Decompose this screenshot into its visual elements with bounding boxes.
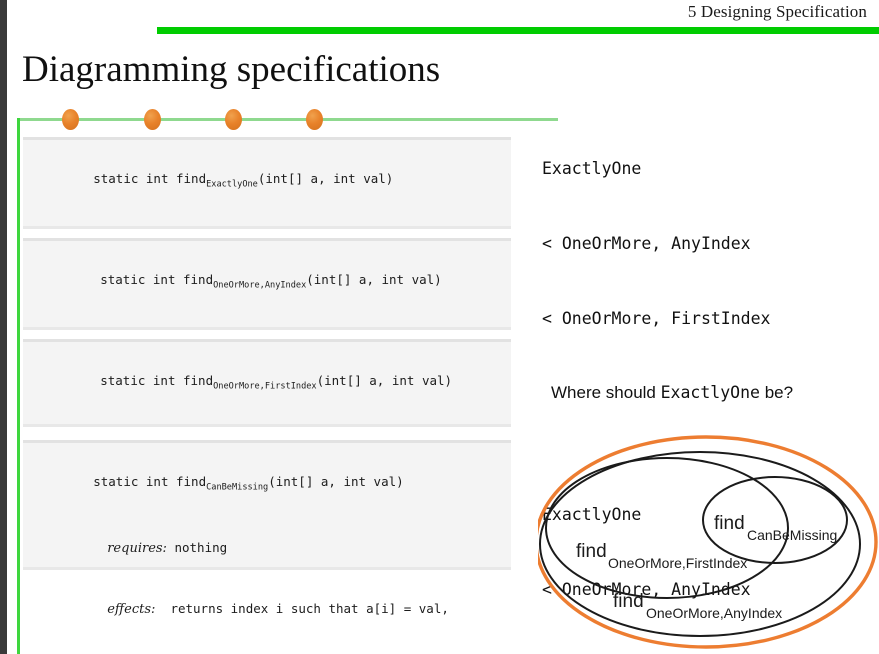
spec-signature-pre: static int find xyxy=(93,171,206,186)
bullet-dot-3 xyxy=(225,109,242,130)
venn-label-canbemissing-main: find xyxy=(714,513,745,534)
bullet-dot-4 xyxy=(306,109,323,130)
venn-label-anyindex-sub: OneOrMore,AnyIndex xyxy=(646,605,782,621)
comparison-line: < OneOrMore, FirstIndex xyxy=(542,306,877,331)
spec-signature-post: (int[] a, int val) xyxy=(317,373,452,388)
bullet-dot-2 xyxy=(144,109,161,130)
spec-box-canbemissing: static int findCanBeMissing(int[] a, int… xyxy=(23,440,511,570)
requires-label: requires: xyxy=(107,541,167,556)
left-vertical-rule xyxy=(17,118,20,654)
spec-box-oneormore-anyindex: static int findOneOrMore,AnyIndex(int[] … xyxy=(23,238,511,330)
title-underline-rule xyxy=(17,118,558,121)
spec-signature-subscript: OneOrMore,FirstIndex xyxy=(213,382,316,392)
spec-signature-subscript: ExactlyOne xyxy=(206,180,258,190)
spec-signature: static int findExactlyOne(int[] a, int v… xyxy=(23,149,511,215)
spec-signature-post: (int[] a, int val) xyxy=(306,272,441,287)
spec-signature-pre: static int find xyxy=(100,373,213,388)
spec-box-exactlyone: static int findExactlyOne(int[] a, int v… xyxy=(23,137,511,229)
comparison-line: < OneOrMore, AnyIndex xyxy=(542,231,877,256)
venn-diagram: find CanBeMissing find OneOrMore,FirstIn… xyxy=(538,420,879,654)
spec-signature-post: (int[] a, int val) xyxy=(268,474,403,489)
effects-label: effects: xyxy=(107,602,155,617)
spec-signature-pre: static int find xyxy=(93,474,206,489)
spec-signature: static int findOneOrMore,FirstIndex(int[… xyxy=(23,351,511,417)
slide-canvas: 5 Designing Specification Diagramming sp… xyxy=(0,0,879,654)
requires-text: nothing xyxy=(174,540,227,555)
venn-question-mono: ExactlyOne xyxy=(661,383,760,402)
left-edge-strip xyxy=(0,0,7,654)
spec-effects-line: effects: returns index i such that a[i] … xyxy=(23,579,511,640)
effects-text: returns index i such that a[i] = val, xyxy=(170,601,448,616)
comparison-block-1: ExactlyOne < OneOrMore, AnyIndex < OneOr… xyxy=(542,106,877,381)
venn-label-anyindex-main: find xyxy=(613,591,644,612)
spec-signature-subscript: OneOrMore,AnyIndex xyxy=(213,281,306,291)
header-section-title: 5 Designing Specification xyxy=(688,2,867,22)
venn-label-canbemissing-sub: CanBeMissing xyxy=(747,527,837,543)
venn-label-firstindex-main: find xyxy=(576,541,607,562)
spec-effects-continuation: or -1 if no such i xyxy=(23,640,511,654)
venn-label-firstindex-sub: OneOrMore,FirstIndex xyxy=(608,555,747,571)
bullet-dot-1 xyxy=(62,109,79,130)
spec-signature-post: (int[] a, int val) xyxy=(258,171,393,186)
spec-box-oneormore-firstindex: static int findOneOrMore,FirstIndex(int[… xyxy=(23,339,511,427)
spec-signature-pre: static int find xyxy=(100,272,213,287)
venn-question: Where should ExactlyOne be? xyxy=(551,383,793,403)
venn-question-post: be? xyxy=(760,383,793,402)
comparison-line: ExactlyOne xyxy=(542,156,877,181)
header-green-bar xyxy=(157,27,879,34)
spec-signature: static int findCanBeMissing(int[] a, int… xyxy=(23,452,511,518)
spec-requires-line: requires: nothing xyxy=(23,518,511,579)
page-title: Diagramming specifications xyxy=(22,48,440,91)
spec-signature: static int findOneOrMore,AnyIndex(int[] … xyxy=(23,250,511,316)
venn-question-pre: Where should xyxy=(551,383,661,402)
spec-signature-subscript: CanBeMissing xyxy=(206,483,268,493)
